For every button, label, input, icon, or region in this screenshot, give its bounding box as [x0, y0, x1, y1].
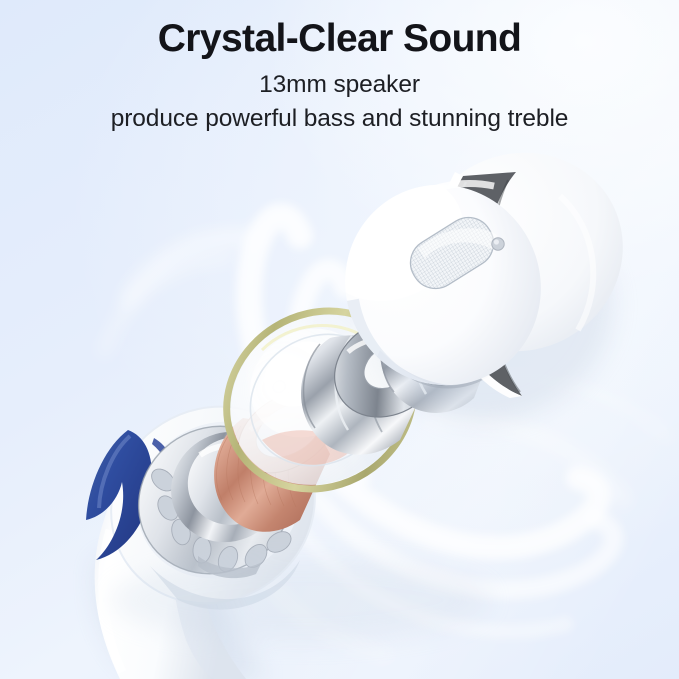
- page-title: Crystal-Clear Sound: [0, 0, 679, 61]
- sensor-dot: [492, 238, 504, 250]
- product-feature-poster: Crystal-Clear Sound 13mm speaker produce…: [0, 0, 679, 679]
- subtitle-line-1: 13mm speaker: [0, 61, 679, 102]
- text-block: Crystal-Clear Sound 13mm speaker produce…: [0, 0, 679, 136]
- subtitle-line-2: produce powerful bass and stunning trebl…: [0, 101, 679, 136]
